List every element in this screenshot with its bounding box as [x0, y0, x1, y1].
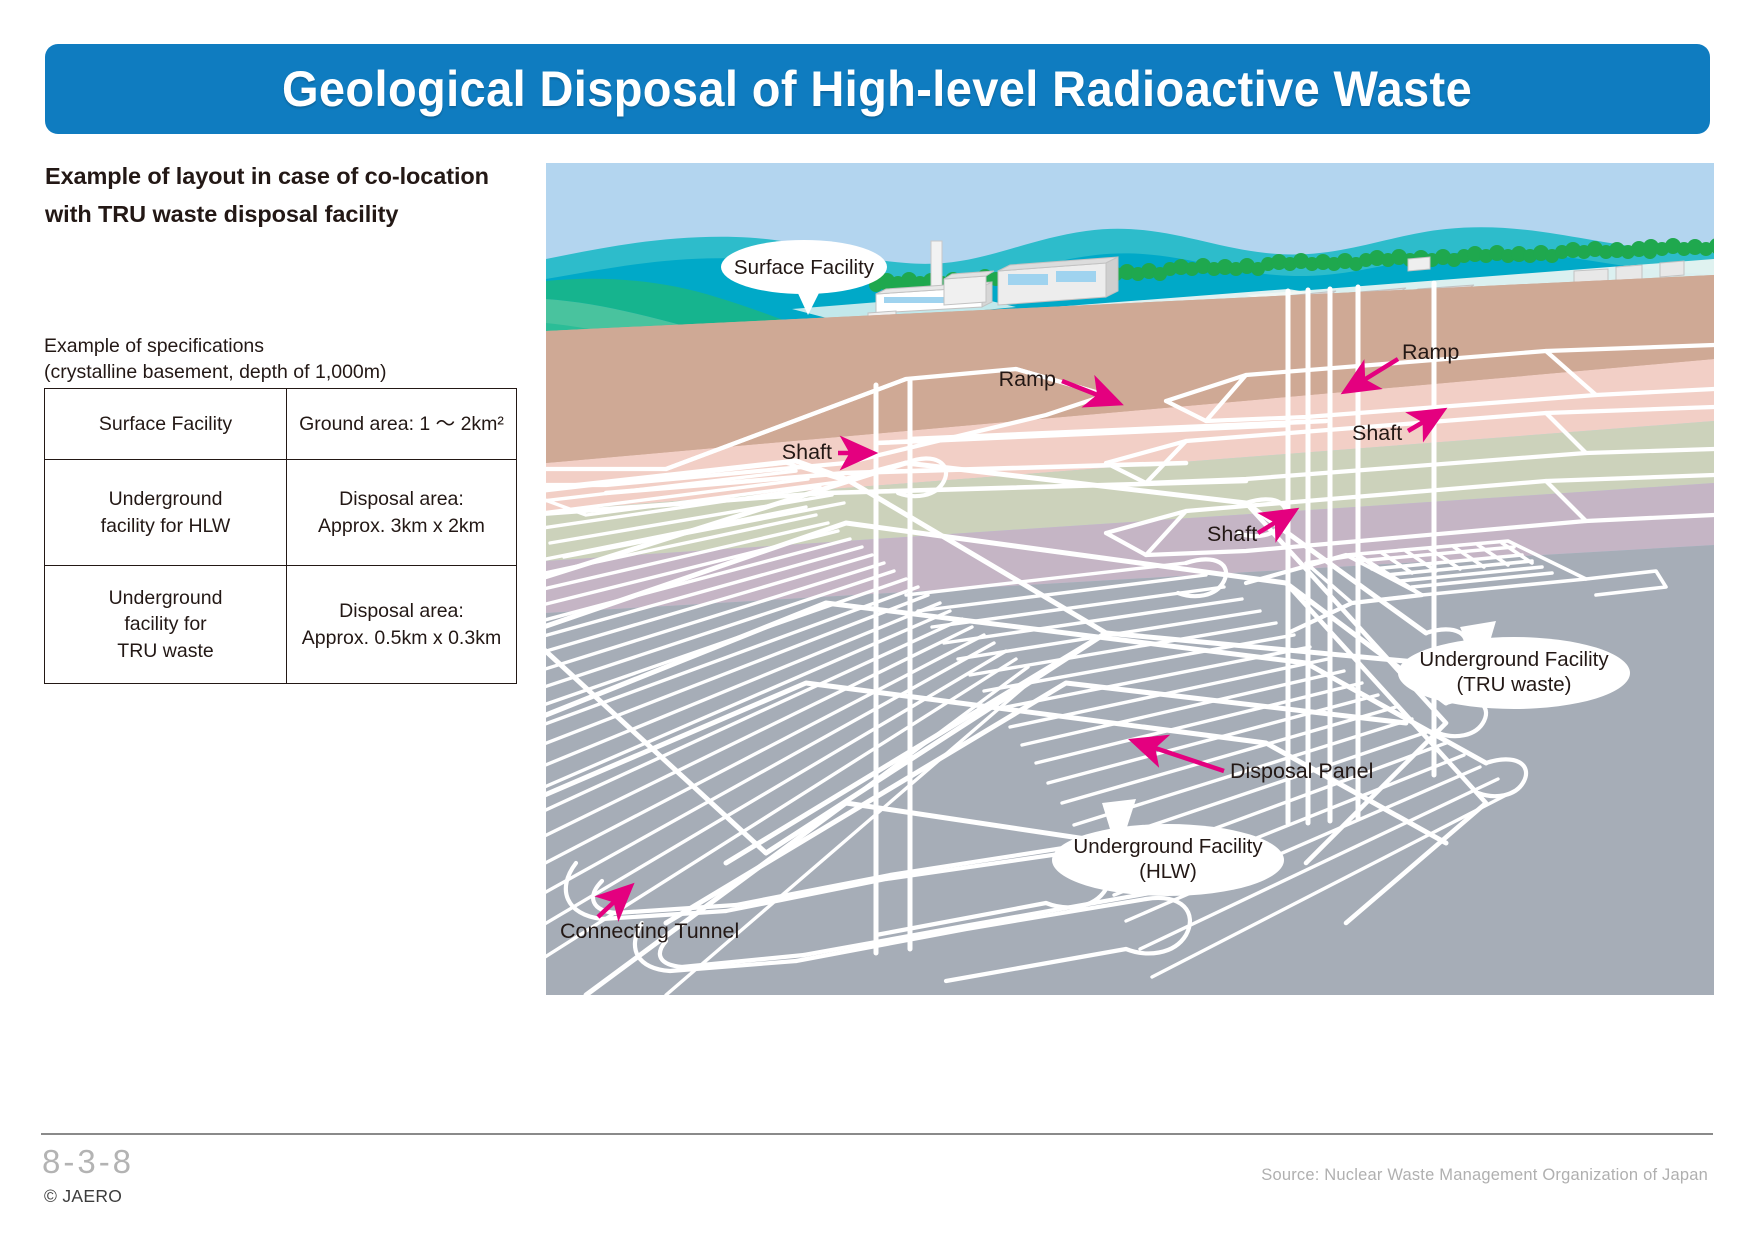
label-shaft-right-text: Shaft	[1352, 421, 1402, 445]
cell-line: Approx. 0.5km x 0.3km	[291, 625, 512, 652]
table-row: Surface Facility Ground area: 1 〜 2km²	[45, 389, 517, 460]
page-number: 8-3-8	[42, 1143, 134, 1181]
subheading: Example of layout in case of co-location…	[45, 157, 515, 233]
cell-line: Disposal area:	[291, 598, 512, 625]
spec-caption-line-1: Example of specifications	[44, 334, 514, 360]
cell-line: Surface Facility	[49, 411, 282, 438]
callout-tru-line-1: Underground Facility	[1419, 648, 1609, 671]
cell-line: facility for HLW	[49, 513, 282, 540]
label-connecting-tunnel-text: Connecting Tunnel	[560, 919, 739, 943]
page-root: Geological Disposal of High-level Radioa…	[0, 0, 1754, 1240]
label-shaft-left-text: Shaft	[782, 440, 832, 464]
cell-line: Approx. 3km x 2km	[291, 513, 512, 540]
cell-line: Underground	[49, 486, 282, 513]
source-credit: Source: Nuclear Waste Management Organiz…	[1261, 1166, 1708, 1185]
table-cell-spec: Disposal area: Approx. 0.5km x 0.3km	[287, 566, 517, 684]
specifications-table: Surface Facility Ground area: 1 〜 2km² U…	[44, 388, 517, 684]
cell-line: TRU waste	[49, 638, 282, 665]
callout-tru-line-2: (TRU waste)	[1456, 673, 1571, 696]
cell-line: Ground area: 1 〜 2km²	[291, 411, 512, 438]
spec-caption: Example of specifications (crystalline b…	[44, 334, 514, 386]
label-ramp-left-text: Ramp	[999, 367, 1056, 391]
copyright-notice: © JAERO	[44, 1186, 122, 1207]
cell-line: Disposal area:	[291, 486, 512, 513]
callout-hlw-line-2: (HLW)	[1139, 860, 1197, 883]
table-row: Underground facility for HLW Disposal ar…	[45, 460, 517, 566]
table-cell-facility: Surface Facility	[45, 389, 287, 460]
callout-hlw-line-1: Underground Facility	[1073, 835, 1263, 858]
page-title: Geological Disposal of High-level Radioa…	[282, 60, 1472, 118]
table-row: Underground facility for TRU waste Dispo…	[45, 566, 517, 684]
geological-disposal-diagram: Surface Facility Ramp Ramp Shaft	[546, 163, 1714, 995]
table-cell-spec: Ground area: 1 〜 2km²	[287, 389, 517, 460]
label-ramp-right-text: Ramp	[1402, 340, 1459, 364]
cell-line: Underground	[49, 585, 282, 612]
subheading-line-2: with TRU waste disposal facility	[45, 195, 515, 233]
table-cell-facility: Underground facility for HLW	[45, 460, 287, 566]
table-cell-spec: Disposal area: Approx. 3km x 2km	[287, 460, 517, 566]
callout-surface-facility-label: Surface Facility	[734, 256, 875, 279]
title-banner: Geological Disposal of High-level Radioa…	[45, 44, 1710, 134]
footer-divider	[41, 1133, 1713, 1135]
subheading-line-1: Example of layout in case of co-location	[45, 157, 515, 195]
cell-line: facility for	[49, 611, 282, 638]
table-cell-facility: Underground facility for TRU waste	[45, 566, 287, 684]
spec-caption-line-2: (crystalline basement, depth of 1,000m)	[44, 360, 514, 386]
label-disposal-panel-text: Disposal Panel	[1230, 759, 1373, 783]
label-shaft-middle-text: Shaft	[1207, 522, 1257, 546]
